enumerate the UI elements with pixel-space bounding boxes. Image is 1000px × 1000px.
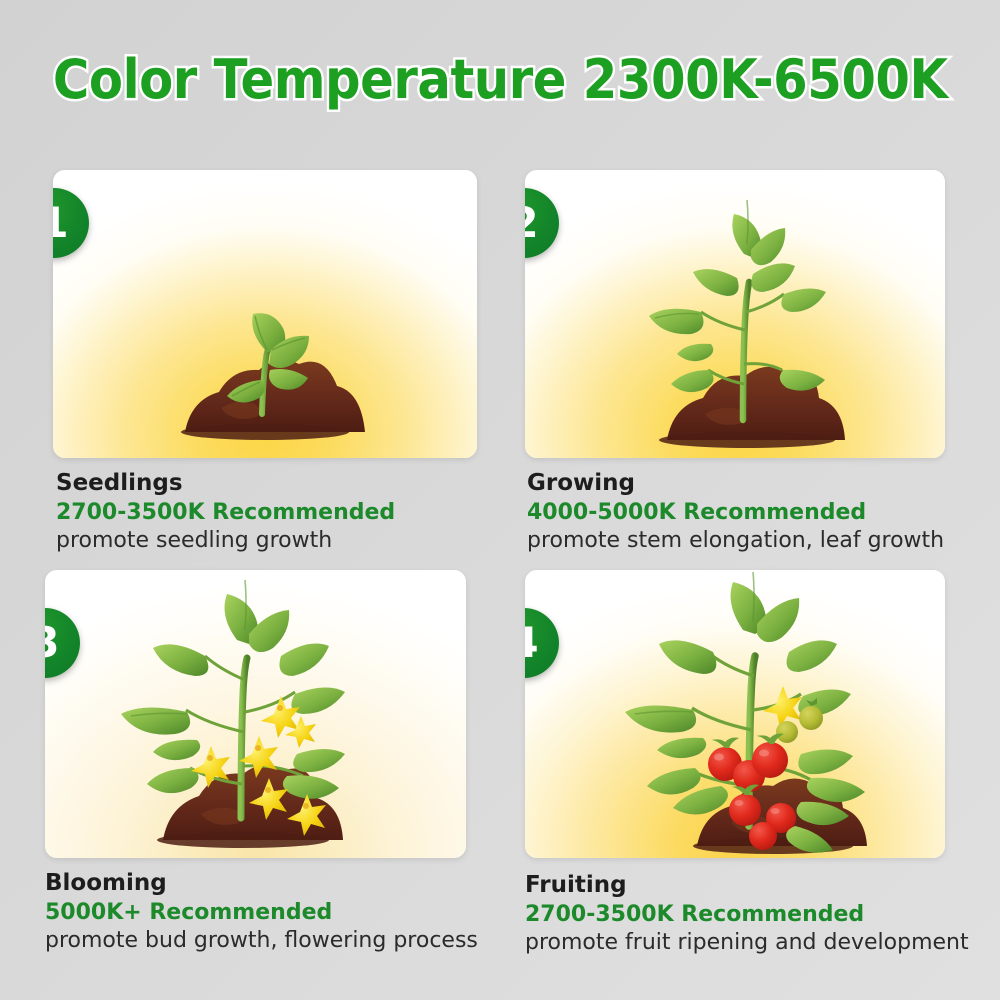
caption-blooming: Blooming 5000K+ Recommended promote bud … — [45, 870, 485, 954]
caption-fruiting: Fruiting 2700-3500K Recommended promote … — [525, 872, 975, 956]
stage-description-seedlings: promote seedling growth — [56, 528, 486, 554]
stage-description-fruiting: promote fruit ripening and development — [525, 930, 975, 956]
stage-description-growing: promote stem elongation, leaf growth — [527, 528, 967, 554]
growing-plant-icon — [525, 170, 945, 458]
caption-seedlings: Seedlings 2700-3500K Recommended promote… — [56, 470, 486, 554]
stage-temperature-growing: 4000-5000K Recommended — [527, 500, 967, 526]
stage-card-seedlings[interactable]: 1 — [53, 170, 477, 458]
infographic-page: Color Temperature 2300K-6500K — [0, 0, 1000, 1000]
stage-name-fruiting: Fruiting — [525, 872, 975, 900]
page-title-container: Color Temperature 2300K-6500K — [0, 48, 1000, 111]
stage-temperature-seedlings: 2700-3500K Recommended — [56, 500, 486, 526]
stage-card-blooming[interactable]: 3 — [45, 570, 466, 858]
stage-card-growing[interactable]: 2 — [525, 170, 945, 458]
stage-card-fruiting[interactable]: 4 — [525, 570, 945, 858]
flowering-plant-icon — [45, 570, 466, 858]
seedling-plant-icon — [53, 170, 477, 458]
stage-description-blooming: promote bud growth, flowering process — [45, 928, 485, 954]
stage-temperature-fruiting: 2700-3500K Recommended — [525, 902, 975, 928]
fruiting-tomato-plant-icon — [525, 570, 945, 858]
caption-growing: Growing 4000-5000K Recommended promote s… — [527, 470, 967, 554]
stage-temperature-blooming: 5000K+ Recommended — [45, 900, 485, 926]
stage-name-blooming: Blooming — [45, 870, 485, 898]
stage-name-seedlings: Seedlings — [56, 470, 486, 498]
page-title: Color Temperature 2300K-6500K — [53, 48, 948, 111]
stage-name-growing: Growing — [527, 470, 967, 498]
